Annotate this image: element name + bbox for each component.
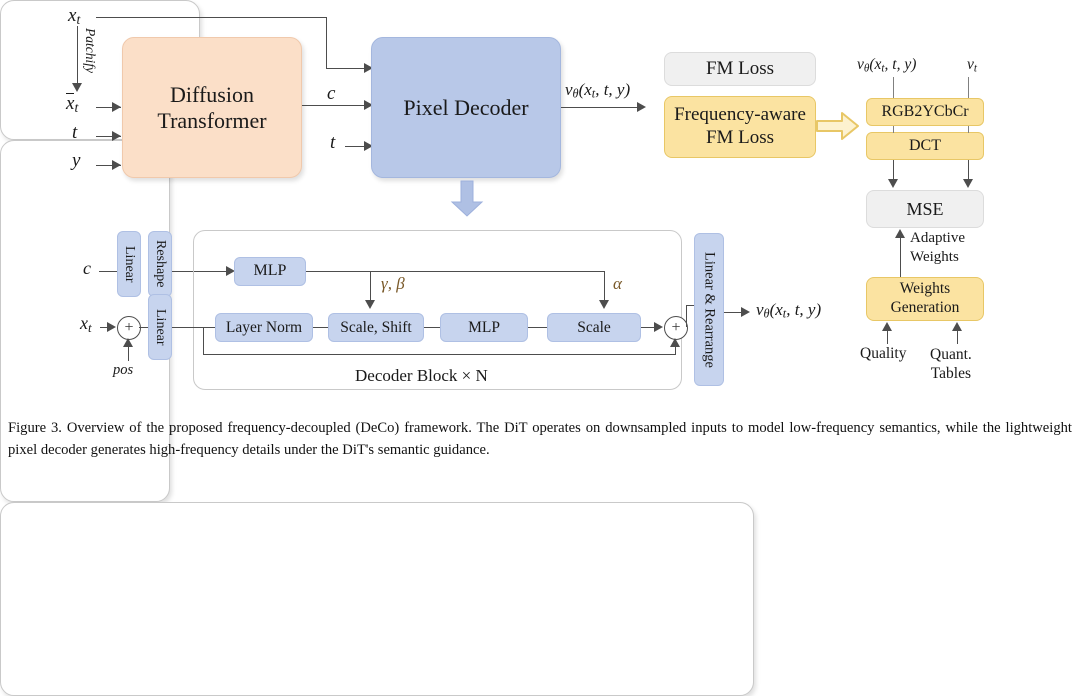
linear-top-label: Linear	[121, 246, 137, 283]
frequency-aware-fm-loss-box: Frequency-aware FM Loss	[664, 96, 816, 158]
arrow-residual-up	[670, 338, 680, 347]
residual-add-node: +	[664, 316, 688, 340]
wire-quant	[957, 330, 958, 344]
edge-label-c: c	[327, 83, 335, 105]
scale-shift-box: Scale, Shift	[328, 313, 424, 342]
reshape-label: Reshape	[152, 240, 168, 287]
wire-t2	[345, 146, 366, 147]
wire-xt-top	[96, 17, 326, 18]
wire-alpha-down	[604, 271, 605, 303]
arrow-alpha	[599, 300, 609, 309]
weights-generation-line1: Weights	[900, 280, 950, 299]
decoder-detail-panel	[0, 502, 754, 696]
fm-loss-box: FM Loss	[664, 52, 816, 86]
arrow-quant	[952, 322, 962, 331]
arrow-pos	[123, 338, 133, 347]
wire-pos	[128, 345, 129, 361]
arrow-vtheta	[637, 102, 646, 112]
decoder-block-label: Decoder Block × N	[355, 366, 488, 386]
patchify-label: Patchify	[82, 28, 98, 73]
arrow-decoder-output	[741, 307, 750, 317]
diffusion-transformer-line2: Transformer	[157, 108, 266, 133]
wire-xt-down	[326, 17, 327, 68]
input-label-xt: xt	[68, 5, 80, 28]
wire-rgb-dct-left	[893, 126, 894, 133]
decoder-input-c: c	[83, 258, 91, 279]
rgb2ycbcr-box: RGB2YCbCr	[866, 98, 984, 126]
scale-box: Scale	[547, 313, 641, 342]
wire-weights-to-mse	[900, 238, 901, 277]
wire-xt-to-decoder	[326, 68, 366, 69]
right-panel-input-vtheta: vθ(xt, t, y)	[857, 56, 916, 74]
arrow-y	[112, 160, 121, 170]
arrow-dct-mse-right	[963, 179, 973, 188]
mse-box: MSE	[866, 190, 984, 228]
dct-box: DCT	[866, 132, 984, 160]
arrow-xbar	[112, 102, 121, 112]
pos-label: pos	[113, 362, 133, 379]
right-panel-input-vt: vt	[967, 56, 977, 74]
diffusion-transformer-line1: Diffusion	[170, 82, 254, 107]
wire-layernorm-scaleshift	[313, 327, 328, 328]
adaptive-weights-line2: Weights	[910, 248, 965, 267]
arrow-quality	[882, 322, 892, 331]
diffusion-transformer-box: Diffusion Transformer	[122, 37, 302, 178]
freq-fm-loss-line2: FM Loss	[706, 127, 774, 150]
reshape-box: Reshape	[148, 231, 172, 297]
figure-container: xt Patchify xt t y Diffusion Transformer…	[0, 0, 1080, 481]
mlp-top-box: MLP	[234, 257, 306, 286]
arrow-xt-plus	[107, 322, 116, 332]
quant-tables-label: Quant. Tables	[930, 345, 972, 384]
linear-top-box: Linear	[117, 231, 141, 297]
wire-vt-to-rgb	[968, 77, 969, 98]
yellow-block-arrow-right	[816, 111, 860, 141]
wire-scaleshift-mlp	[424, 327, 440, 328]
blue-block-arrow-down	[450, 180, 484, 218]
linear-rearrange-label: Linear & Rearrange	[700, 252, 717, 368]
figure-caption: Figure 3. Overview of the proposed frequ…	[8, 418, 1072, 462]
arrow-scale-plus	[654, 322, 663, 332]
wire-plus-up	[686, 305, 687, 327]
arrow-t	[112, 131, 121, 141]
wire-mlp-scale	[528, 327, 547, 328]
pixel-decoder-box: Pixel Decoder	[371, 37, 561, 178]
arrow-patchify	[72, 83, 82, 92]
arrow-dct-mse-left	[888, 179, 898, 188]
wire-c	[302, 105, 366, 106]
linear-rearrange-box: Linear & Rearrange	[694, 233, 724, 386]
layer-norm-box: Layer Norm	[215, 313, 313, 342]
vtheta-output-label: vθ(xt, t, y)	[565, 80, 630, 102]
wire-quality	[887, 330, 888, 344]
input-label-t: t	[72, 122, 77, 144]
wire-vtheta	[561, 107, 643, 108]
weights-generation-line2: Generation	[891, 299, 960, 318]
add-pos-node: +	[117, 316, 141, 340]
wire-patchify	[77, 26, 78, 84]
linear-bottom-box: Linear	[148, 294, 172, 360]
mlp-mid-box: MLP	[440, 313, 528, 342]
quality-label: Quality	[860, 345, 907, 363]
decoder-input-xt: xt	[80, 313, 92, 336]
gamma-beta-label: γ, β	[381, 274, 405, 294]
linear-bottom-label: Linear	[152, 309, 168, 346]
arrow-gamma-beta	[365, 300, 375, 309]
adaptive-weights-line1: Adaptive	[910, 229, 965, 248]
wire-mlp-top-out	[306, 271, 604, 272]
alpha-label: α	[613, 274, 622, 294]
wire-gamma-beta-down	[370, 271, 371, 303]
wire-residual-bottom	[203, 354, 675, 355]
quant-line2: Tables	[930, 364, 972, 383]
weights-generation-box: Weights Generation	[866, 277, 984, 321]
quant-line1: Quant.	[930, 345, 972, 364]
wire-c-linear	[99, 271, 117, 272]
edge-label-t: t	[330, 132, 335, 154]
freq-fm-loss-line1: Frequency-aware	[674, 104, 806, 127]
input-label-y: y	[72, 150, 80, 172]
wire-plus-linear	[139, 327, 148, 328]
arrow-weights-to-mse	[895, 229, 905, 238]
decoder-output-label: vθ(xt, t, y)	[756, 300, 821, 322]
input-label-xbar: xt	[66, 93, 78, 116]
wire-rgb-dct-right	[968, 126, 969, 133]
adaptive-weights-label: Adaptive Weights	[910, 229, 965, 267]
wire-residual-down	[203, 327, 204, 354]
wire-vtheta-to-rgb	[893, 77, 894, 98]
